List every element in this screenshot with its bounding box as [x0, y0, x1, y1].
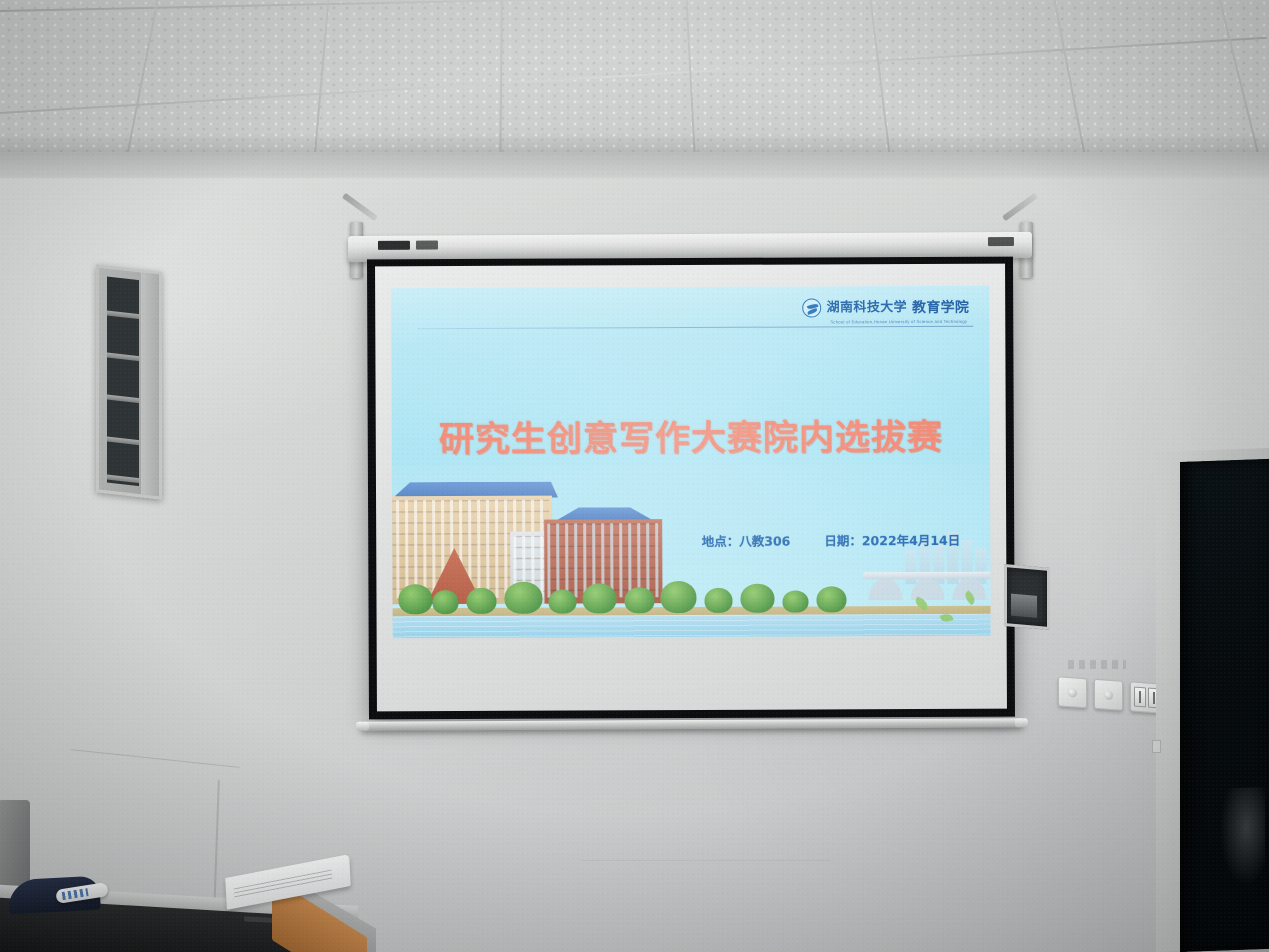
screen-weight-bar[interactable] [360, 718, 1024, 730]
remote-buttons [62, 888, 89, 900]
louver-blade [107, 352, 139, 361]
tree [504, 582, 542, 614]
housing-model-label [416, 241, 438, 250]
weight-bar-cap [356, 722, 369, 731]
louver-opening [107, 276, 139, 486]
campus-photo [392, 464, 991, 639]
tree [816, 586, 846, 612]
tree [782, 590, 808, 612]
door-wall-plate [1152, 740, 1161, 753]
projection-screen-assembly[interactable]: 湖南科技大学 教育学院 School of Education,Hunan Un… [336, 196, 1044, 756]
blank-wall-plate-1[interactable] [1058, 676, 1087, 708]
plate-screw-icon [1068, 687, 1077, 697]
wall-faint-marking [1068, 660, 1126, 669]
tree [548, 590, 576, 614]
slide-date: 日期：2022年4月14日 [824, 530, 960, 550]
louver-blade [107, 394, 139, 403]
tree [624, 587, 654, 613]
tree [660, 581, 696, 613]
louver-reveal [141, 272, 159, 496]
ceiling [0, 0, 1269, 172]
tree [704, 588, 732, 613]
doorway-highlight [1219, 787, 1265, 889]
switch-rocker-1[interactable] [1134, 687, 1146, 708]
wall-soffit [0, 152, 1269, 178]
screen-bracket-arm-right [1002, 193, 1038, 221]
louver-blade [107, 310, 139, 319]
tree-line [392, 572, 990, 615]
river-water [393, 614, 991, 639]
slide-location: 地点：八教306 [702, 531, 791, 550]
screen-border: 湖南科技大学 教育学院 School of Education,Hunan Un… [367, 257, 1015, 720]
university-emblem-icon [803, 298, 822, 317]
screen-surface[interactable]: 湖南科技大学 教育学院 School of Education,Hunan Un… [375, 264, 1007, 712]
tree [582, 583, 616, 613]
logo-university-name: 湖南科技大学 [827, 301, 907, 314]
niche-hardware [1011, 594, 1037, 618]
weight-bar-cap [1015, 718, 1028, 727]
plate-screw-icon [1104, 690, 1113, 700]
louver-blade [107, 474, 139, 483]
slide-header-divider [417, 326, 973, 329]
housing-brand-label [378, 241, 410, 250]
tree [740, 584, 774, 613]
screen-bracket-arm-left [342, 193, 378, 221]
logo-english-name: School of Education,Hunan University of … [830, 319, 967, 325]
slide-logo: 湖南科技大学 教育学院 School of Education,Hunan Un… [803, 298, 970, 318]
louver-blade [107, 436, 139, 445]
logo-school-name: 教育学院 [912, 300, 969, 314]
wall-equipment-niche [1004, 564, 1050, 630]
tree [398, 584, 432, 614]
blank-wall-plate-2[interactable] [1094, 679, 1123, 711]
louver-window [96, 264, 162, 500]
wall-seam [580, 860, 830, 861]
tree [432, 590, 458, 614]
slide-title: 研究生创意写作大赛院内选拔赛 [392, 409, 990, 463]
tree [466, 588, 496, 614]
housing-sticker [988, 237, 1014, 246]
projected-slide: 湖南科技大学 教育学院 School of Education,Hunan Un… [391, 286, 991, 639]
open-doorway[interactable] [1180, 459, 1269, 952]
slide-meta: 地点：八教306 日期：2022年4月14日 [702, 530, 961, 550]
classroom-photo: 湖南科技大学 教育学院 School of Education,Hunan Un… [0, 0, 1269, 952]
